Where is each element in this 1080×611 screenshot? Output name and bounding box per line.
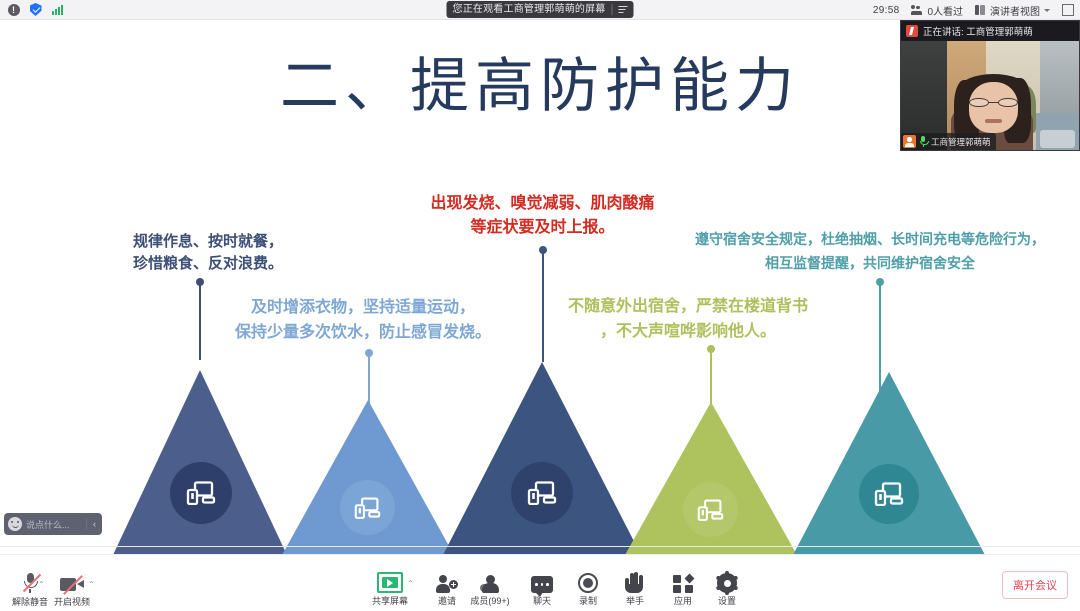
viewers-label: 0人看过 (927, 3, 963, 18)
signal-icon[interactable] (51, 3, 64, 16)
raise-hand-label: 举手 (626, 596, 644, 606)
icon-badge-5 (859, 464, 919, 524)
apps-icon (673, 571, 693, 593)
record-icon (578, 571, 598, 593)
connector-dot (365, 349, 373, 357)
layout-icon (975, 5, 986, 15)
speaking-label: 正在讲话: 工商管理郭萌萌 (923, 24, 1033, 38)
toolbar-center-group: 共享屏幕 ⌃ 邀请 成员(99+) 聊天 (360, 558, 720, 606)
invite-label: 邀请 (438, 596, 456, 606)
connector-dot (539, 246, 547, 254)
connector-dot (196, 278, 204, 286)
glasses (969, 98, 1019, 108)
emoji-icon[interactable] (8, 517, 22, 531)
meeting-timer: 29:58 (873, 5, 900, 16)
callout-text-2: 及时增添衣物，坚持适量运动， 保持少量多次饮水，防止感冒发烧。 (188, 295, 538, 345)
shield-icon[interactable] (29, 3, 42, 16)
camera-off-icon (60, 572, 84, 594)
chevron-left-icon[interactable]: ‹ (91, 519, 98, 529)
icon-badge-1 (170, 462, 232, 524)
callout-text-3: 出现发烧、嗅觉减弱、肌肉酸痛 等症状要及时上报。 (395, 192, 690, 240)
top-bar-right: 29:58 0人看过 演讲者视图 (873, 0, 1074, 20)
triangle-shape (443, 362, 641, 555)
triangle-1 (113, 370, 287, 555)
top-bar: ! 您正在观看工商管理郭萌萌的屏幕 29:58 0人看过 演讲者视图 (0, 0, 1080, 20)
chat-divider (86, 518, 87, 530)
share-screen-label: 共享屏幕 (372, 596, 408, 606)
video-options-chevron-icon[interactable]: ⌃ (88, 580, 95, 589)
leave-meeting-button[interactable]: 离开会议 (1002, 571, 1068, 599)
settings-button[interactable]: 设置 (697, 571, 757, 606)
view-mode-selector[interactable]: 演讲者视图 (975, 3, 1050, 18)
people-icon (911, 5, 923, 15)
devices-icon (186, 481, 216, 505)
chat-input[interactable]: 说点什么... (26, 518, 82, 531)
speaker-video-feed: 工商管理郭萌萌 (901, 41, 1079, 150)
screen-share-icon (377, 571, 403, 593)
members-label: 成员(99+) (470, 596, 509, 606)
devices-icon (527, 481, 557, 505)
apps-label: 应用 (674, 596, 692, 606)
floating-chat-bar[interactable]: 说点什么... ‹ (4, 513, 102, 535)
chat-label: 聊天 (533, 596, 551, 606)
start-video-label: 开启视频 (54, 597, 90, 607)
meeting-window: ! 您正在观看工商管理郭萌萌的屏幕 29:58 0人看过 演讲者视图 (0, 0, 1080, 611)
share-screen-button[interactable]: 共享屏幕 (360, 571, 420, 606)
avatar (903, 135, 916, 148)
slide-baseline (0, 546, 1080, 547)
screen-share-notice: 您正在观看工商管理郭萌萌的屏幕 (447, 1, 634, 18)
triangle-2 (282, 400, 454, 555)
triangle-4 (625, 402, 797, 555)
callout-text-5: 遵守宿舍安全规定，杜绝抽烟、长时间充电等危险行为， 相互监督提醒，共同维护宿舍安… (670, 227, 1070, 275)
icon-badge-2 (340, 480, 395, 535)
chevron-down-icon[interactable] (1044, 9, 1050, 12)
invite-icon (436, 571, 458, 593)
meeting-toolbar: 解除静音 ⌃ 开启视频 ⌃ 共享屏幕 ⌃ 邀请 (0, 554, 1080, 611)
callout-text-1: 规律作息、按时就餐， 珍惜粮食、反对浪费。 (58, 231, 358, 275)
connector-dot (707, 345, 715, 353)
record-label: 录制 (579, 596, 597, 606)
speaker-video-header: 正在讲话: 工商管理郭萌萌 (901, 21, 1079, 41)
hamburger-icon[interactable] (619, 6, 628, 13)
icon-badge-3 (511, 462, 573, 524)
icon-badge-4 (683, 482, 738, 537)
callout-text-4: 不随意外出宿舍，严禁在楼道背书 ，不大声喧哗影响他人。 (528, 294, 848, 344)
participant-name: 工商管理郭萌萌 (931, 136, 991, 148)
pill-divider (612, 4, 613, 15)
mic-on-icon (919, 136, 928, 147)
top-bar-left-icons: ! (0, 3, 64, 16)
start-video-button[interactable]: 开启视频 (42, 572, 102, 607)
connector-dot (876, 278, 884, 286)
share-notice-pill[interactable]: 您正在观看工商管理郭萌萌的屏幕 (447, 1, 634, 18)
participant-name-tag: 工商管理郭萌萌 (901, 133, 996, 150)
triangle-3 (443, 362, 641, 555)
members-icon (480, 571, 500, 593)
triangle-5 (793, 372, 985, 555)
expand-icon[interactable] (1062, 4, 1074, 16)
settings-label: 设置 (718, 596, 736, 606)
mic-muted-icon (21, 572, 40, 594)
speaker-video-panel[interactable]: 正在讲话: 工商管理郭萌萌 工商管理郭萌萌 (900, 20, 1080, 151)
share-notice-text: 您正在观看工商管理郭萌萌的屏幕 (453, 1, 606, 18)
hand-icon (625, 571, 645, 593)
chat-icon (531, 571, 553, 593)
viewers-counter[interactable]: 0人看过 (911, 3, 963, 18)
gear-icon (717, 571, 737, 593)
devices-icon (697, 499, 724, 521)
speaking-icon (906, 25, 918, 37)
share-options-chevron-icon[interactable]: ⌃ (407, 579, 414, 588)
devices-icon (354, 497, 381, 519)
info-icon[interactable]: ! (7, 3, 20, 16)
members-button[interactable]: 成员(99+) (460, 571, 520, 606)
devices-icon (874, 482, 904, 506)
view-mode-label: 演讲者视图 (990, 3, 1040, 18)
